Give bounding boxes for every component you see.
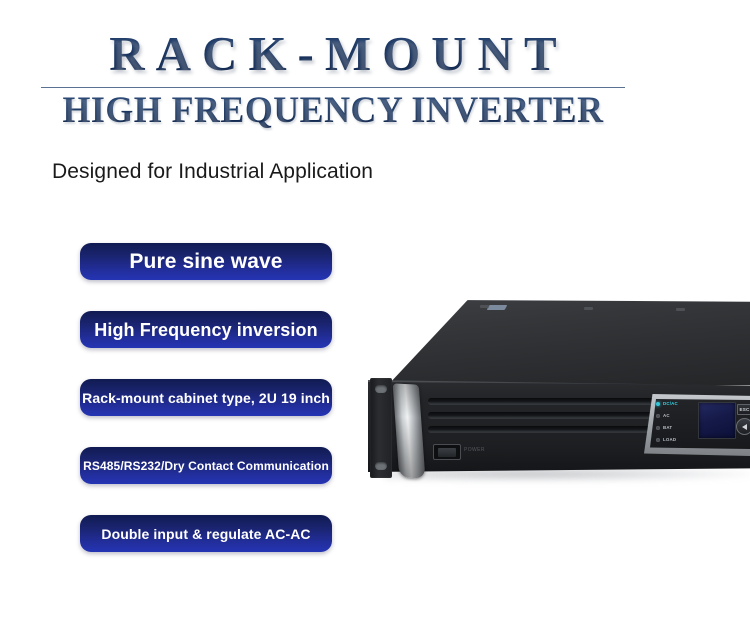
page-title: RACK-MOUNT — [0, 26, 666, 82]
feature-pill-double-input[interactable]: Double input & regulate AC-AC — [80, 515, 332, 552]
feature-pill-label: RS485/RS232/Dry Contact Communication — [83, 460, 329, 472]
top-panel-highlight — [487, 305, 508, 310]
title-divider — [41, 87, 625, 88]
led-dot-icon — [656, 402, 660, 406]
led-indicator-load: LOAD — [656, 438, 676, 442]
led-indicator-dcac: DC/AC — [656, 402, 678, 406]
led-dot-icon — [656, 426, 660, 430]
led-indicator-group: DC/AC AC BAT LOAD — [656, 401, 696, 449]
power-switch-rocker — [438, 448, 456, 457]
led-indicator-ac: AC — [656, 414, 670, 418]
vent-slot — [428, 398, 654, 404]
product-image: POWER DC/AC AC BAT LOAD ESC — [368, 300, 750, 490]
feature-list: Pure sine wave High Frequency inversion … — [80, 243, 332, 583]
rack-ear-slot-icon — [375, 385, 387, 393]
tagline: Designed for Industrial Application — [52, 160, 373, 184]
vent-slot — [428, 426, 654, 432]
feature-pill-communication[interactable]: RS485/RS232/Dry Contact Communication — [80, 447, 332, 484]
page-subtitle: HIGH FREQUENCY INVERTER — [10, 90, 656, 132]
led-label: AC — [663, 414, 670, 418]
feature-pill-label: High Frequency inversion — [94, 321, 317, 339]
lcd-display — [698, 402, 736, 439]
device-top-panel — [388, 300, 750, 385]
led-label: DC/AC — [663, 402, 678, 406]
top-screw-icon — [676, 308, 685, 311]
power-switch[interactable] — [433, 444, 461, 460]
top-screw-icon — [584, 307, 593, 310]
led-dot-icon — [656, 438, 660, 442]
feature-pill-rack-mount-cabinet[interactable]: Rack-mount cabinet type, 2U 19 inch — [80, 379, 332, 416]
power-switch-label: POWER — [464, 447, 485, 453]
led-dot-icon — [656, 414, 660, 418]
rack-ear-slot-icon — [375, 462, 387, 470]
feature-pill-high-frequency-inversion[interactable]: High Frequency inversion — [80, 311, 332, 348]
ventilation-slots — [428, 396, 654, 438]
chevron-left-icon — [742, 424, 747, 430]
feature-pill-label: Rack-mount cabinet type, 2U 19 inch — [82, 391, 330, 405]
heading-block: RACK-MOUNT HIGH FREQUENCY INVERTER — [0, 26, 666, 132]
esc-button[interactable]: ESC — [737, 404, 750, 415]
top-screw-icon — [430, 327, 435, 330]
top-screw-icon — [480, 305, 489, 308]
feature-pill-pure-sine-wave[interactable]: Pure sine wave — [80, 243, 332, 280]
left-arrow-button[interactable] — [736, 418, 750, 435]
vent-slot — [428, 412, 654, 418]
led-label: LOAD — [663, 438, 676, 442]
rack-mount-ear — [370, 378, 392, 478]
feature-pill-label: Pure sine wave — [129, 251, 282, 272]
led-indicator-bat: BAT — [656, 426, 672, 430]
feature-pill-label: Double input & regulate AC-AC — [101, 527, 310, 541]
led-label: BAT — [663, 426, 672, 430]
